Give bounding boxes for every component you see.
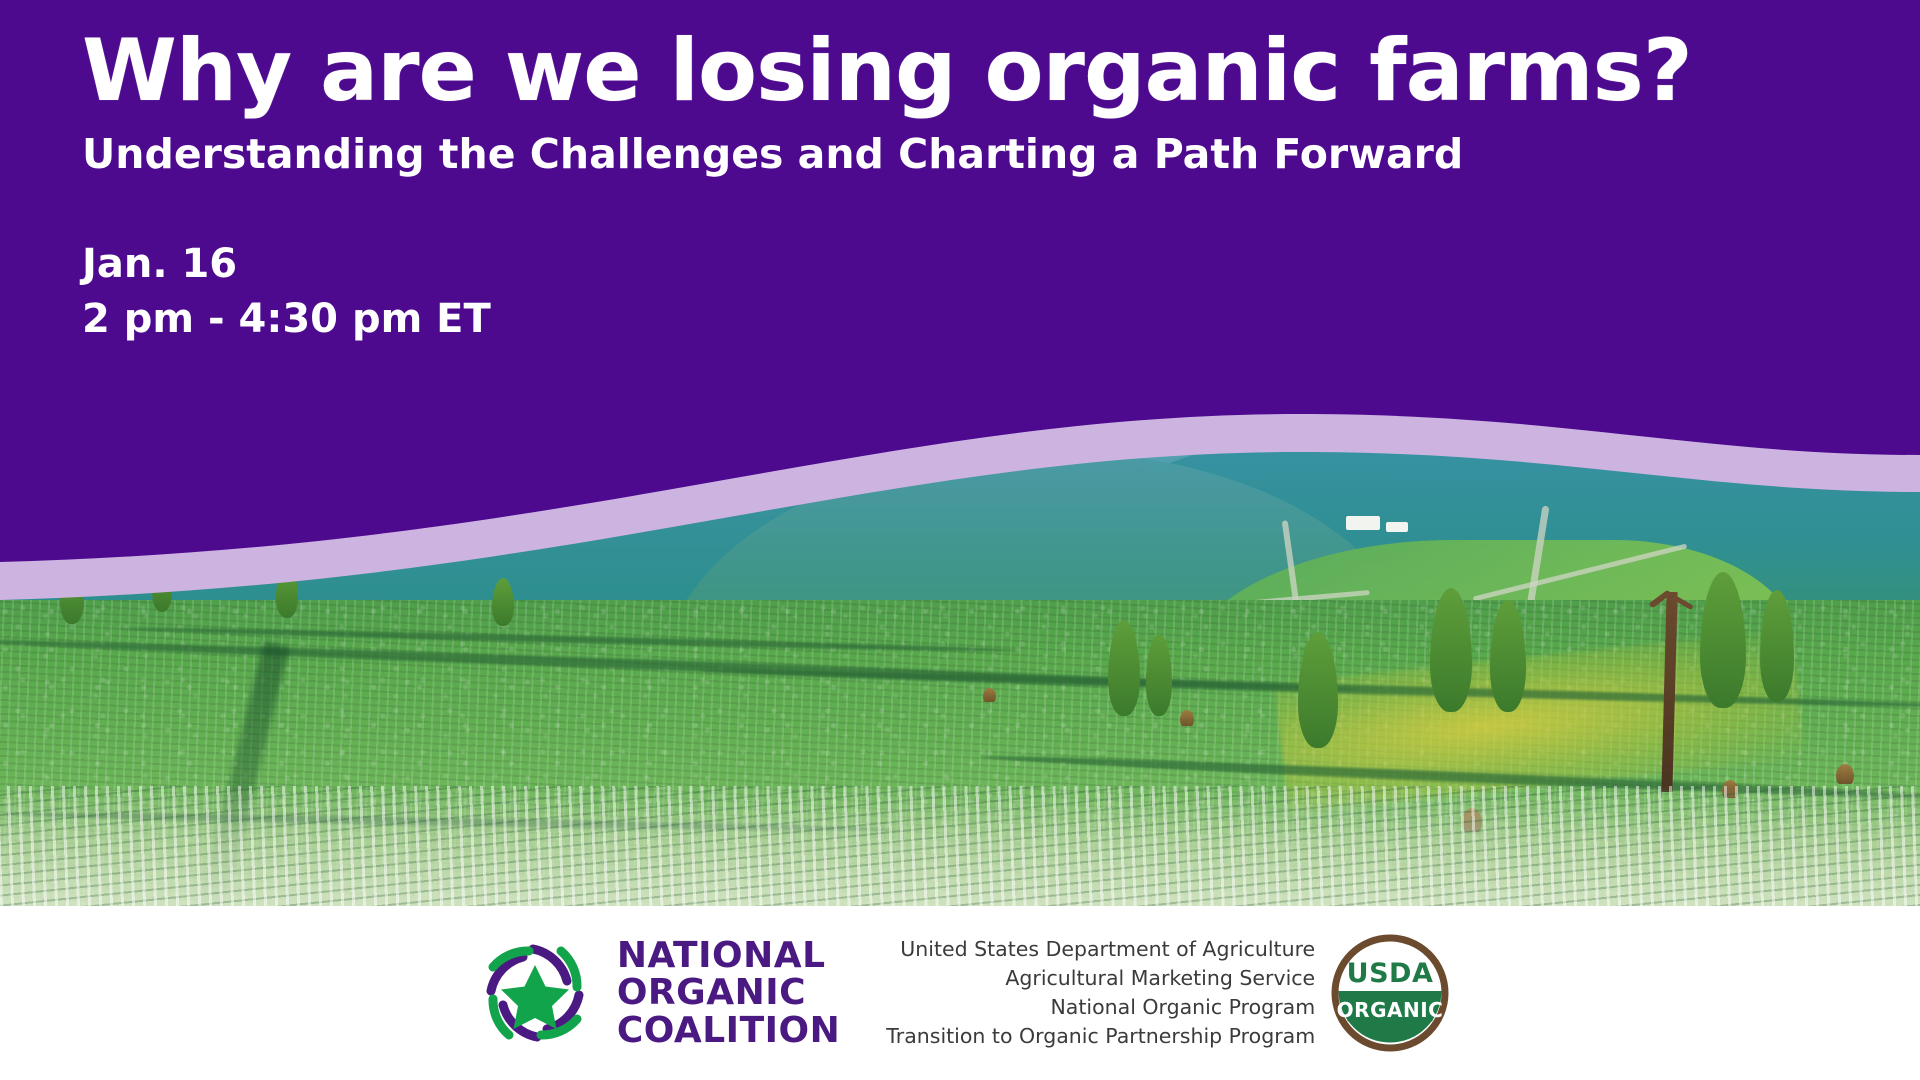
usda-seal-top-text: USDA [1347, 958, 1434, 989]
foreground-crops [0, 786, 1920, 906]
event-datetime: Jan. 16 2 pm - 4:30 pm ET [82, 237, 1802, 346]
pinwheel-star-icon [471, 929, 599, 1057]
usda-line-4: Transition to Organic Partnership Progra… [886, 1022, 1315, 1051]
farm-building [1386, 522, 1408, 532]
foreground-crop-texture [0, 786, 1920, 906]
event-time: 2 pm - 4:30 pm ET [82, 292, 1802, 346]
usda-line-1: United States Department of Agriculture [886, 935, 1315, 964]
page-title: Why are we losing organic farms? [82, 26, 1802, 116]
usda-line-2: Agricultural Marketing Service [886, 964, 1315, 993]
usda-organic-seal-icon: USDA ORGANIC [1331, 934, 1449, 1052]
farm-building [1346, 516, 1380, 530]
usda-line-3: National Organic Program [886, 993, 1315, 1022]
national-organic-coalition-logo: NATIONAL ORGANIC COALITION [471, 929, 840, 1057]
header-text-block: Why are we losing organic farms? Underst… [82, 26, 1802, 346]
usda-program-lines: United States Department of Agriculture … [886, 935, 1315, 1051]
usda-seal-bottom-text: ORGANIC [1337, 998, 1444, 1022]
noc-line-3: COALITION [617, 1012, 840, 1049]
webinar-promo-poster: Why are we losing organic farms? Underst… [0, 0, 1920, 1080]
harvest-pile [983, 688, 996, 702]
harvest-pile [1180, 710, 1194, 726]
page-subtitle: Understanding the Challenges and Chartin… [82, 130, 1802, 179]
event-date: Jan. 16 [82, 237, 1802, 291]
national-organic-coalition-wordmark: NATIONAL ORGANIC COALITION [617, 937, 840, 1049]
noc-line-2: ORGANIC [617, 974, 840, 1011]
footer-logo-bar: NATIONAL ORGANIC COALITION United States… [0, 906, 1920, 1080]
noc-line-1: NATIONAL [617, 937, 840, 974]
usda-program-block: United States Department of Agriculture … [886, 934, 1449, 1052]
harvest-pile [1836, 764, 1854, 784]
